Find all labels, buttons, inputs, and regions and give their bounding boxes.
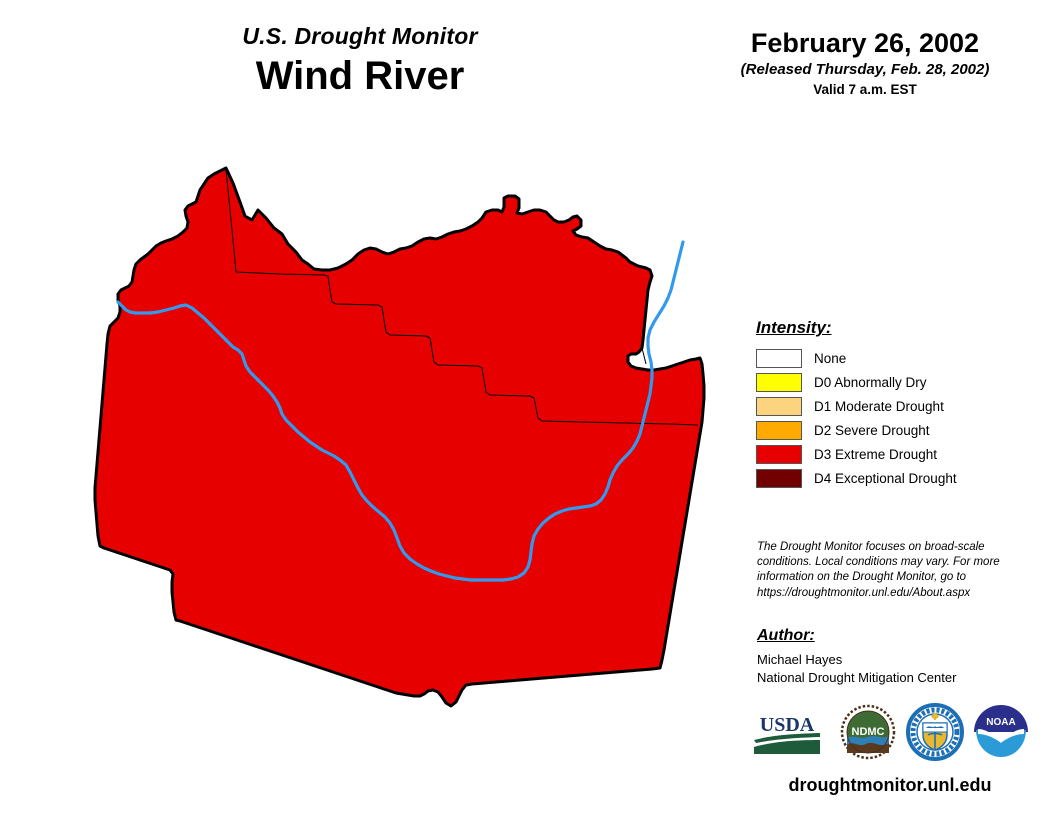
release-date: (Released Thursday, Feb. 28, 2002) <box>690 61 1040 78</box>
legend-label-d3: D3 Extreme Drought <box>814 447 937 462</box>
legend-label-d0: D0 Abnormally Dry <box>814 375 927 390</box>
legend-swatch-d3 <box>756 445 802 464</box>
noaa-logo[interactable]: NOAA <box>972 703 1030 766</box>
usda-logo[interactable]: USDA <box>752 710 822 761</box>
map-svg <box>30 150 730 810</box>
legend-heading: Intensity: <box>756 318 1026 338</box>
legend-swatch-none <box>756 349 802 368</box>
title-block: U.S. Drought Monitor Wind River <box>150 24 570 99</box>
ndmc-logo-icon: NDMC <box>840 704 896 760</box>
author-organization: National Drought Mitigation Center <box>757 669 1027 687</box>
author-name: Michael Hayes <box>757 651 1027 669</box>
legend-label-d4: D4 Exceptional Drought <box>814 471 957 486</box>
svg-text:NOAA: NOAA <box>986 717 1015 728</box>
ndmc-logo[interactable]: NDMC <box>840 704 896 765</box>
footer-url[interactable]: droughtmonitor.unl.edu <box>740 775 1040 796</box>
legend-item-d0[interactable]: D0 Abnormally Dry <box>756 370 1026 394</box>
disclaimer-text: The Drought Monitor focuses on broad-sca… <box>757 540 1017 601</box>
usdc-seal-logo[interactable] <box>906 703 964 766</box>
legend-item-none[interactable]: None <box>756 346 1026 370</box>
legend-swatch-d2 <box>756 421 802 440</box>
legend-swatch-d1 <box>756 397 802 416</box>
legend-label-d1: D1 Moderate Drought <box>814 399 944 414</box>
legend-item-d3[interactable]: D3 Extreme Drought <box>756 442 1026 466</box>
county-line-east <box>642 348 646 364</box>
author-heading: Author: <box>757 627 1027 645</box>
legend-label-none: None <box>814 351 846 366</box>
region-fill-wind-river <box>95 168 704 706</box>
drought-map <box>30 150 730 810</box>
author-panel: Author: Michael Hayes National Drought M… <box>757 627 1027 686</box>
noaa-logo-icon: NOAA <box>972 703 1030 761</box>
svg-text:NDMC: NDMC <box>852 726 885 738</box>
legend-item-d1[interactable]: D1 Moderate Drought <box>756 394 1026 418</box>
usda-logo-icon: USDA <box>752 710 822 756</box>
program-title: U.S. Drought Monitor <box>150 24 570 49</box>
region-title: Wind River <box>150 53 570 99</box>
legend-swatch-d0 <box>756 373 802 392</box>
map-date: February 26, 2002 <box>690 28 1040 58</box>
legend-label-d2: D2 Severe Drought <box>814 423 930 438</box>
logo-row: USDA NDMC <box>752 702 1034 764</box>
legend-panel: Intensity: None D0 Abnormally Dry D1 Mod… <box>756 318 1026 490</box>
valid-time: Valid 7 a.m. EST <box>690 82 1040 98</box>
legend-swatch-d4 <box>756 469 802 488</box>
legend-item-d4[interactable]: D4 Exceptional Drought <box>756 466 1026 490</box>
date-block: February 26, 2002 (Released Thursday, Fe… <box>690 28 1040 98</box>
usdc-seal-logo-icon <box>906 703 964 761</box>
svg-text:USDA: USDA <box>760 714 815 736</box>
legend-item-d2[interactable]: D2 Severe Drought <box>756 418 1026 442</box>
